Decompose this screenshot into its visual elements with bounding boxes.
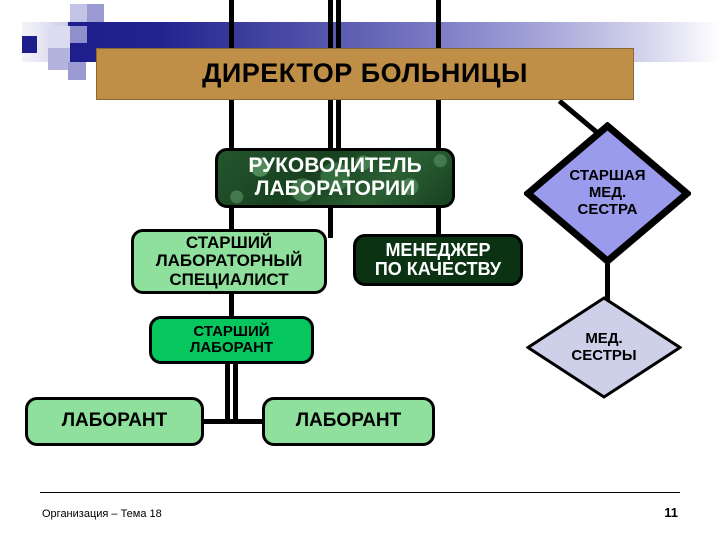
- decor-square-pale-a: [48, 26, 70, 48]
- footer-divider: [40, 492, 680, 493]
- node-quality-manager[interactable]: МЕНЕДЖЕР ПО КАЧЕСТВУ: [353, 234, 523, 286]
- connector-spec-to-seniortech: [229, 291, 234, 319]
- decor-square-top2: [87, 4, 104, 22]
- node-nurses[interactable]: МЕД. СЕСТРЫ: [526, 296, 682, 399]
- decor-square-top: [70, 4, 87, 22]
- decor-square-dark: [20, 36, 37, 53]
- footer-page-number: 11: [664, 505, 678, 520]
- node-senior-technician[interactable]: СТАРШИЙ ЛАБОРАНТ: [149, 316, 314, 364]
- node-senior-nurse[interactable]: СТАРШАЯ МЕД. СЕСТРА: [524, 122, 691, 265]
- node-senior-specialist[interactable]: СТАРШИЙ ЛАБОРАТОРНЫЙ СПЕЦИАЛИСТ: [131, 229, 327, 294]
- node-senior-nurse-label: СТАРШАЯ МЕД. СЕСТРА: [524, 122, 691, 265]
- slide-canvas: ДИРЕКТОР БОЛЬНИЦЫ РУКОВОДИТЕЛЬ ЛАБОРАТОР…: [0, 0, 720, 540]
- node-lab-head[interactable]: РУКОВОДИТЕЛЬ ЛАБОРАТОРИИ: [215, 148, 455, 208]
- footer-subject-label: Организация – Тема 18: [42, 508, 162, 520]
- connector-seniortech-stem-b: [233, 361, 238, 421]
- node-technician-right[interactable]: ЛАБОРАНТ: [262, 397, 435, 446]
- node-technician-left[interactable]: ЛАБОРАНТ: [25, 397, 204, 446]
- connector-bottom-left: [201, 419, 231, 424]
- connector-seniortech-stem-a: [225, 361, 230, 421]
- decor-square-low: [68, 62, 86, 80]
- connector-bottom-right: [229, 419, 265, 424]
- node-nurses-label: МЕД. СЕСТРЫ: [526, 296, 682, 399]
- decor-square-mid: [70, 26, 87, 43]
- decor-square-blank: [0, 22, 22, 62]
- node-director[interactable]: ДИРЕКТОР БОЛЬНИЦЫ: [96, 48, 634, 100]
- decor-square-pale-b: [48, 48, 70, 70]
